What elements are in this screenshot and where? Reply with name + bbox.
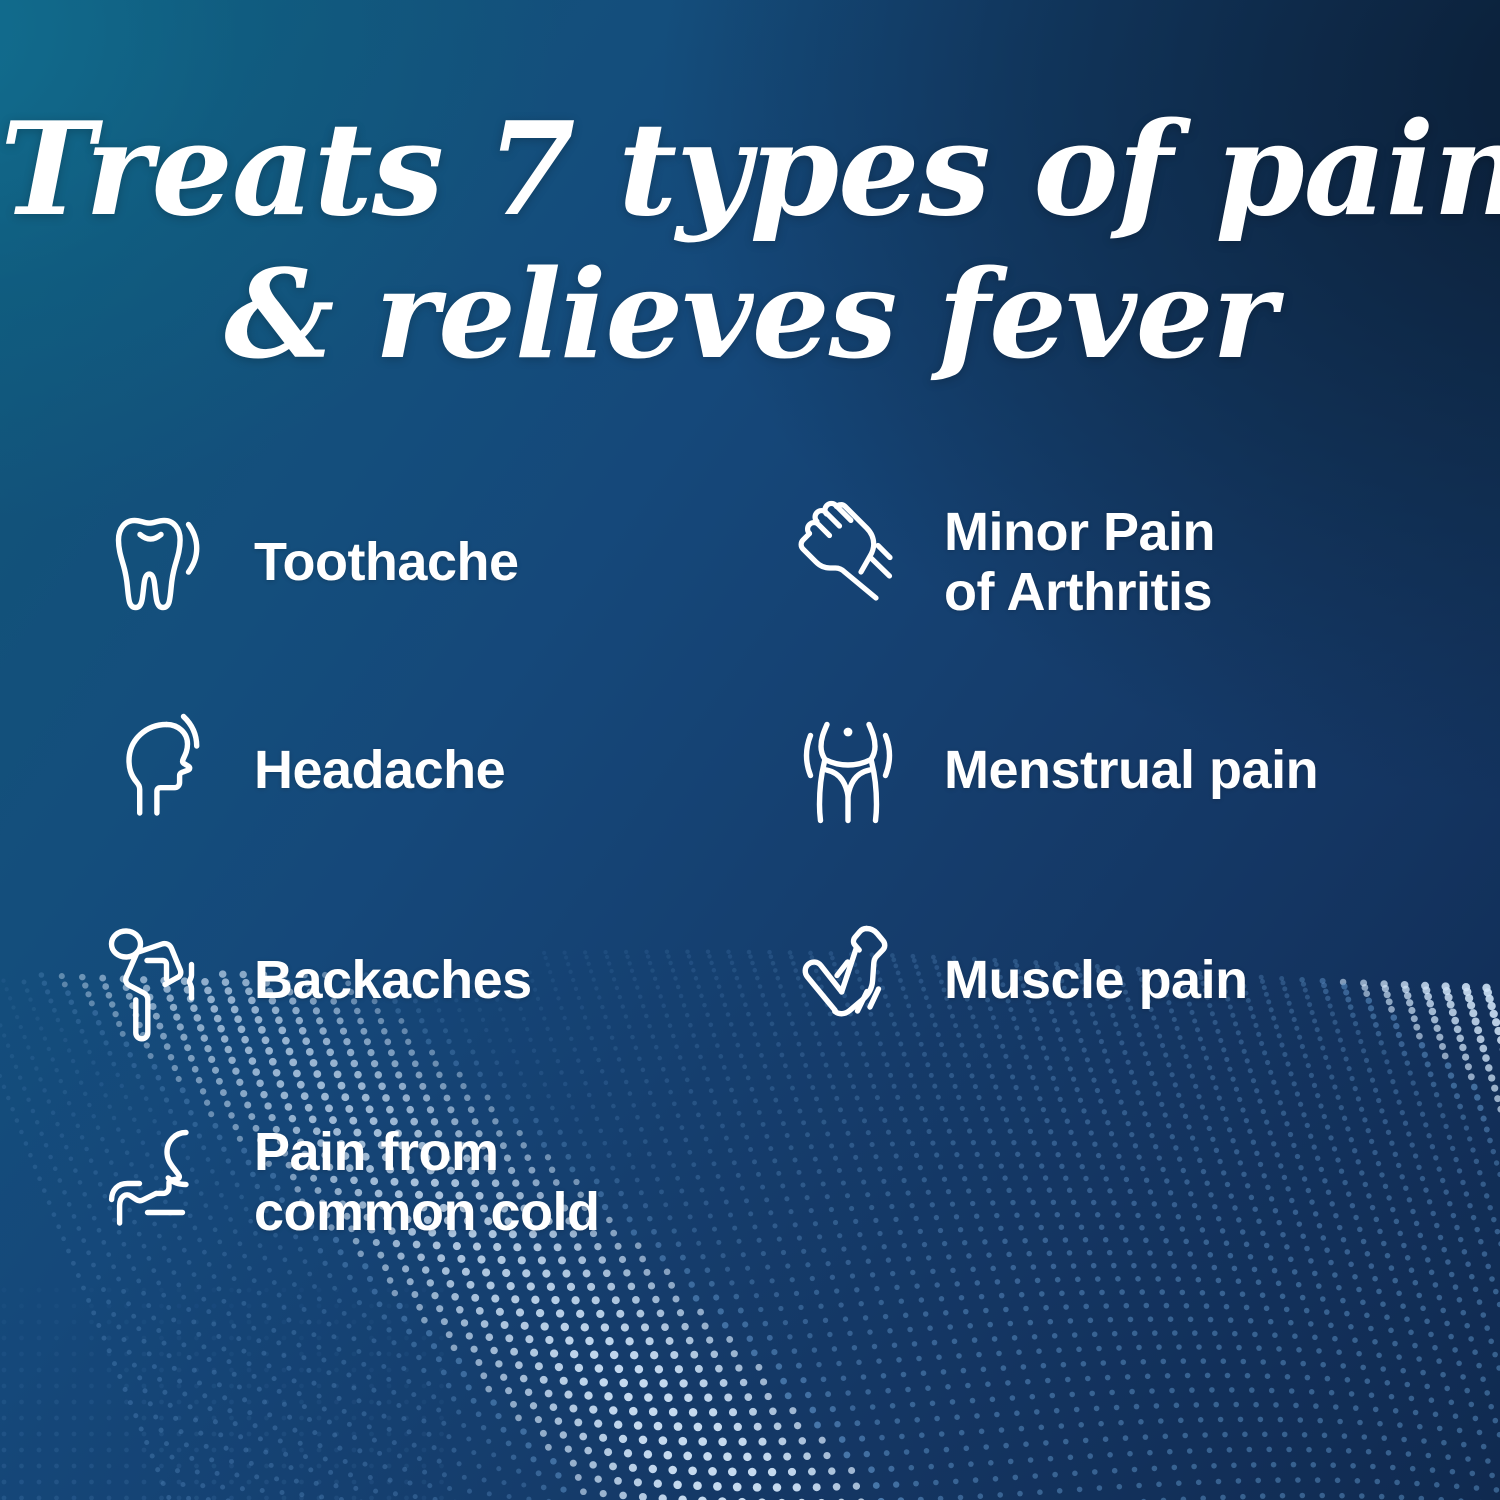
benefit-label: Headache xyxy=(254,740,505,800)
benefit-item-menstrual-pain: Menstrual pain xyxy=(786,708,1318,832)
headline-line-1: Treats 7 types of pain xyxy=(0,96,1500,244)
tooth-icon xyxy=(96,500,220,624)
benefit-item-headache: Headache xyxy=(96,708,505,832)
pain-relief-benefits-poster: Treats 7 types of pain & relieves fever … xyxy=(0,0,1500,1500)
hands-icon xyxy=(786,500,910,624)
benefit-item-toothache: Toothache xyxy=(96,500,519,624)
sneeze-nose-icon xyxy=(96,1120,220,1244)
benefit-label: Minor Pain of Arthritis xyxy=(944,502,1215,623)
benefit-label: Toothache xyxy=(254,532,519,592)
abdomen-hips-icon xyxy=(786,708,910,832)
benefit-item-common-cold: Pain from common cold xyxy=(96,1120,600,1244)
benefit-item-backaches: Backaches xyxy=(96,918,532,1042)
flexed-arm-icon xyxy=(786,918,910,1042)
benefit-label: Backaches xyxy=(254,950,532,1010)
benefit-item-arthritis: Minor Pain of Arthritis xyxy=(786,500,1215,624)
benefit-label: Pain from common cold xyxy=(254,1122,600,1243)
benefit-label: Muscle pain xyxy=(944,950,1248,1010)
benefit-item-muscle-pain: Muscle pain xyxy=(786,918,1248,1042)
headline: Treats 7 types of pain & relieves fever xyxy=(0,96,1500,386)
benefit-label: Menstrual pain xyxy=(944,740,1318,800)
backache-person-icon xyxy=(96,918,220,1042)
head-profile-icon xyxy=(96,708,220,832)
headline-line-2: & relieves fever xyxy=(0,244,1500,386)
